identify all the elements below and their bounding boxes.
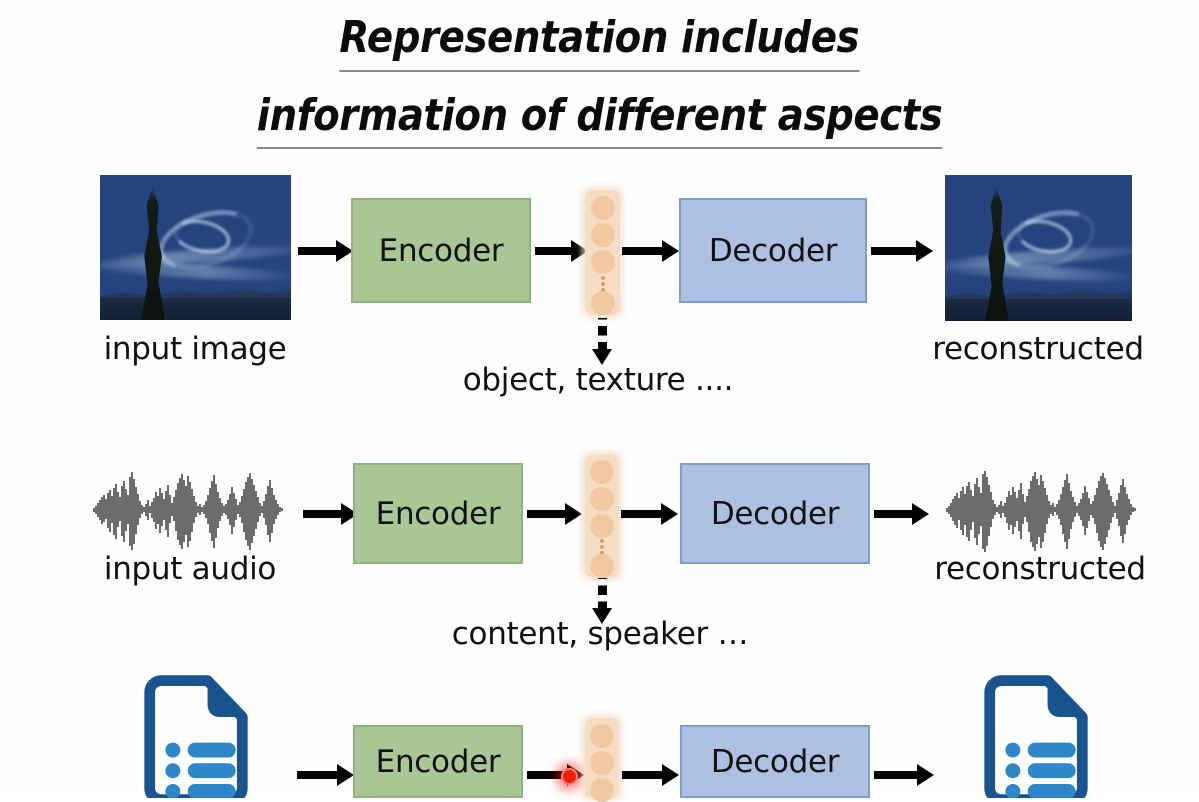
decoder-label: Decoder [709,233,837,269]
encoder-label: Encoder [376,496,501,532]
encoder-box[interactable]: Encoder [353,725,523,798]
latent-node [590,778,614,802]
latent-node [591,223,615,247]
input-image-label: input image [60,331,330,367]
decoder-box[interactable]: Decoder [679,198,867,303]
village-shape [100,298,291,320]
input-audio-label: input audio [55,551,325,587]
dotted-down-arrow-icon [598,318,607,366]
latent-node [590,514,614,538]
latent-vector [585,190,620,315]
decoder-box[interactable]: Decoder [680,463,870,564]
decoder-box[interactable]: Decoder [680,725,870,798]
latent-node [590,460,614,484]
reconstructed-document-list-icon [966,674,1106,798]
encoder-label: Encoder [379,233,504,269]
reconstructed-image-label: reconstructed [898,331,1178,367]
latent-vector [585,455,619,577]
latent-node [590,751,614,775]
latent-ellipsis-icon [601,276,605,292]
latent-node [591,196,615,220]
input-audio-waveform-icon [92,462,288,558]
decoder-label: Decoder [711,744,839,780]
village-shape [945,299,1132,321]
reconstructed-audio-waveform-icon [945,462,1141,558]
latent-caption-image: object, texture .... [403,362,793,398]
input-document-list-icon [126,674,266,798]
latent-ellipsis-icon [600,539,604,555]
decoder-label: Decoder [711,496,839,532]
title-line-2: information of different aspects [257,86,943,150]
latent-caption-audio: content, speaker … [395,616,805,652]
latent-node [591,291,615,315]
reconstructed-audio-label: reconstructed [895,551,1185,587]
reconstructed-image-starry-night [945,175,1132,321]
encoder-box[interactable]: Encoder [351,198,531,303]
title-line-1: Representation includes [340,8,860,72]
latent-node [590,487,614,511]
latent-node [590,724,614,748]
slide-canvas: Representation includes information of d… [0,0,1199,798]
latent-node [590,554,614,578]
red-cursor-dot-icon [561,768,578,785]
page-title: Representation includes information of d… [0,8,1199,149]
encoder-label: Encoder [376,744,501,780]
input-image-starry-night [100,175,291,320]
encoder-box[interactable]: Encoder [353,463,523,564]
latent-vector [585,718,619,798]
latent-node [591,250,615,274]
